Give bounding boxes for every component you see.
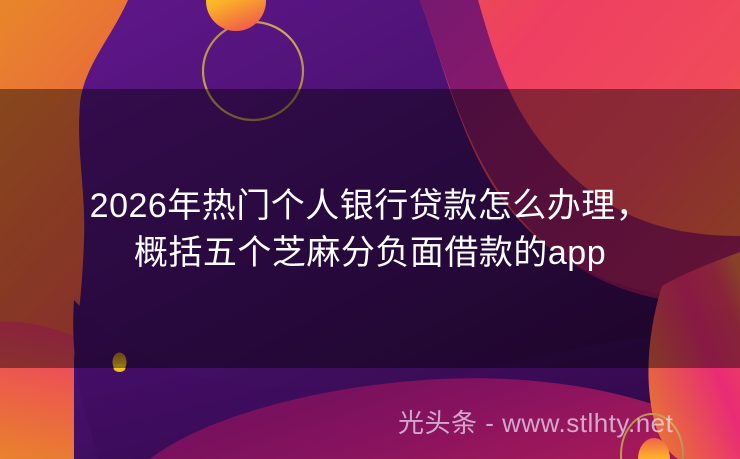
gold-dot-left-core-icon — [114, 364, 126, 372]
title-line-2: 概括五个芝麻分负面借款的app — [0, 230, 740, 277]
title-line-1: 2026年热门个人银行贷款怎么办理， — [0, 183, 740, 230]
site-watermark: 光头条 - www.stlhty.net — [398, 406, 673, 440]
poster-title: 2026年热门个人银行贷款怎么办理， 概括五个芝麻分负面借款的app — [0, 183, 740, 277]
poster-canvas: 2026年热门个人银行贷款怎么办理， 概括五个芝麻分负面借款的app 光头条 -… — [0, 0, 740, 459]
